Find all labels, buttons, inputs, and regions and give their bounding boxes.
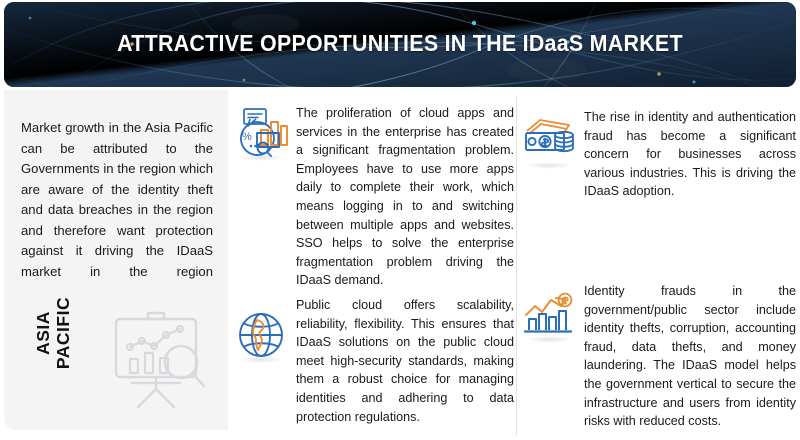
sidebar-panel: Market growth in the Asia Pacific can be… — [4, 90, 228, 430]
content-block-cloud-fragmentation: % — [232, 104, 514, 290]
growth-bar-chart-dollar-icon — [520, 286, 578, 344]
region-callout: ASIA PACIFIC — [4, 295, 228, 425]
content-block-government-identity-fraud: Identity frauds in the government/public… — [520, 282, 796, 431]
analytics-search-chart-icon: % — [232, 104, 290, 162]
icon-shadow — [238, 356, 284, 363]
money-banknotes-coins-icon — [520, 112, 578, 170]
content-block-text: The rise in identity and authentication … — [584, 108, 796, 201]
content-block-authentication-fraud: The rise in identity and authentication … — [520, 108, 796, 201]
globe-icon — [232, 306, 290, 364]
icon-shadow — [526, 336, 572, 343]
presentation-chart-magnifier-icon — [108, 305, 212, 413]
region-label: ASIA PACIFIC — [33, 278, 73, 388]
icon-shadow — [238, 154, 284, 161]
svg-text:%: % — [242, 131, 252, 143]
content-block-text: The proliferation of cloud apps and serv… — [296, 104, 514, 290]
content-block-public-cloud: Public cloud offers scalability, reliabi… — [232, 296, 514, 426]
content-block-text: Public cloud offers scalability, reliabi… — [296, 296, 514, 426]
content-block-text: Identity frauds in the government/public… — [584, 282, 796, 431]
sidebar-paragraph: Market growth in the Asia Pacific can be… — [21, 118, 213, 282]
icon-shadow — [526, 162, 572, 169]
page-title: ATTRACTIVE OPPORTUNITIES IN THE IDaaS MA… — [32, 30, 769, 57]
column-divider — [516, 96, 517, 436]
infographic-page: ATTRACTIVE OPPORTUNITIES IN THE IDaaS MA… — [0, 0, 800, 440]
header-banner: ATTRACTIVE OPPORTUNITIES IN THE IDaaS MA… — [4, 2, 796, 87]
